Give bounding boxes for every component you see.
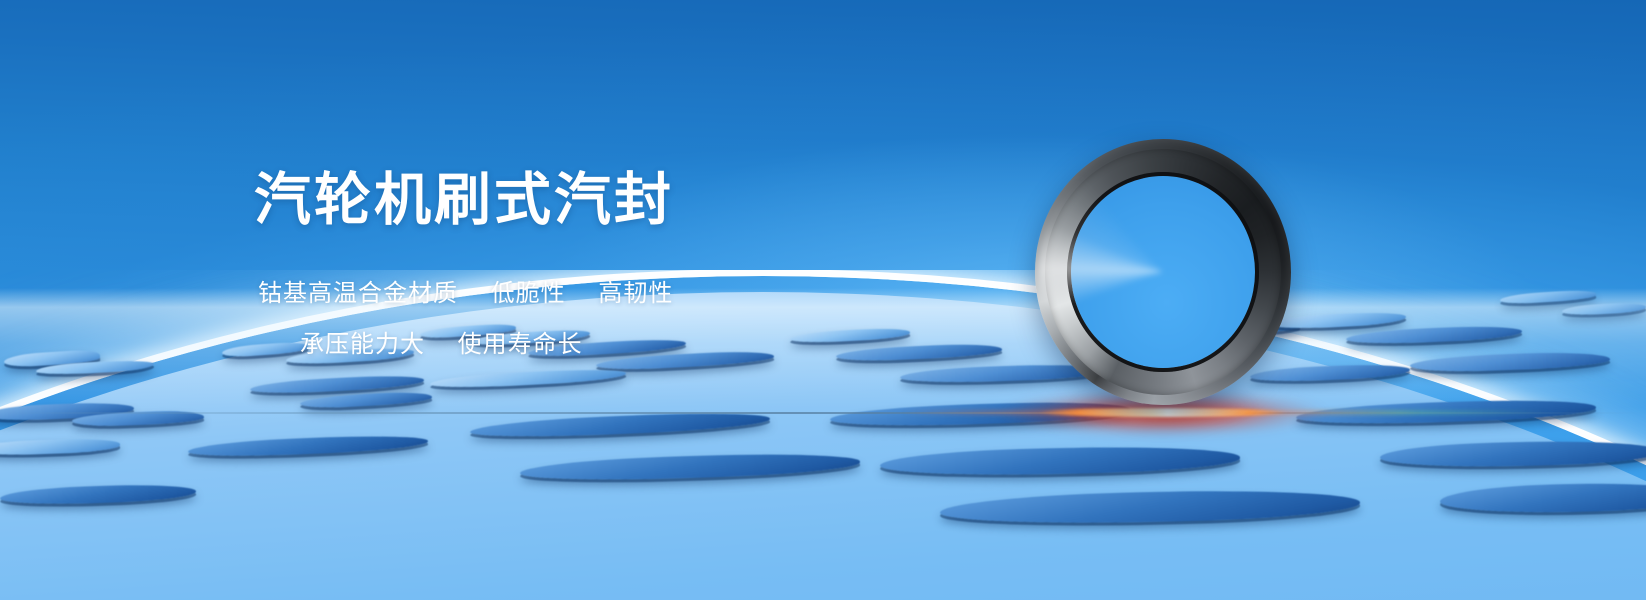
landmass [4, 349, 101, 368]
landmass [1270, 310, 1406, 330]
ring-contact-shadow [1068, 392, 1258, 418]
landmass [1500, 289, 1596, 305]
subtitle-line-1: 钴基高温合金材质 低脆性 高韧性 [258, 282, 1014, 306]
banner-copy: 汽轮机刷式汽封 钴基高温合金材质 低脆性 高韧性 承压能力大 使用寿命长 [254, 170, 1014, 357]
subtitle-line-2: 承压能力大 使用寿命长 [300, 333, 1014, 357]
hero-banner: 汽轮机刷式汽封 钴基高温合金材质 低脆性 高韧性 承压能力大 使用寿命长 [0, 0, 1646, 600]
landmass [1562, 302, 1646, 316]
landmass [1346, 324, 1522, 346]
landmass [1410, 351, 1610, 374]
page-title: 汽轮机刷式汽封 [254, 170, 1014, 232]
